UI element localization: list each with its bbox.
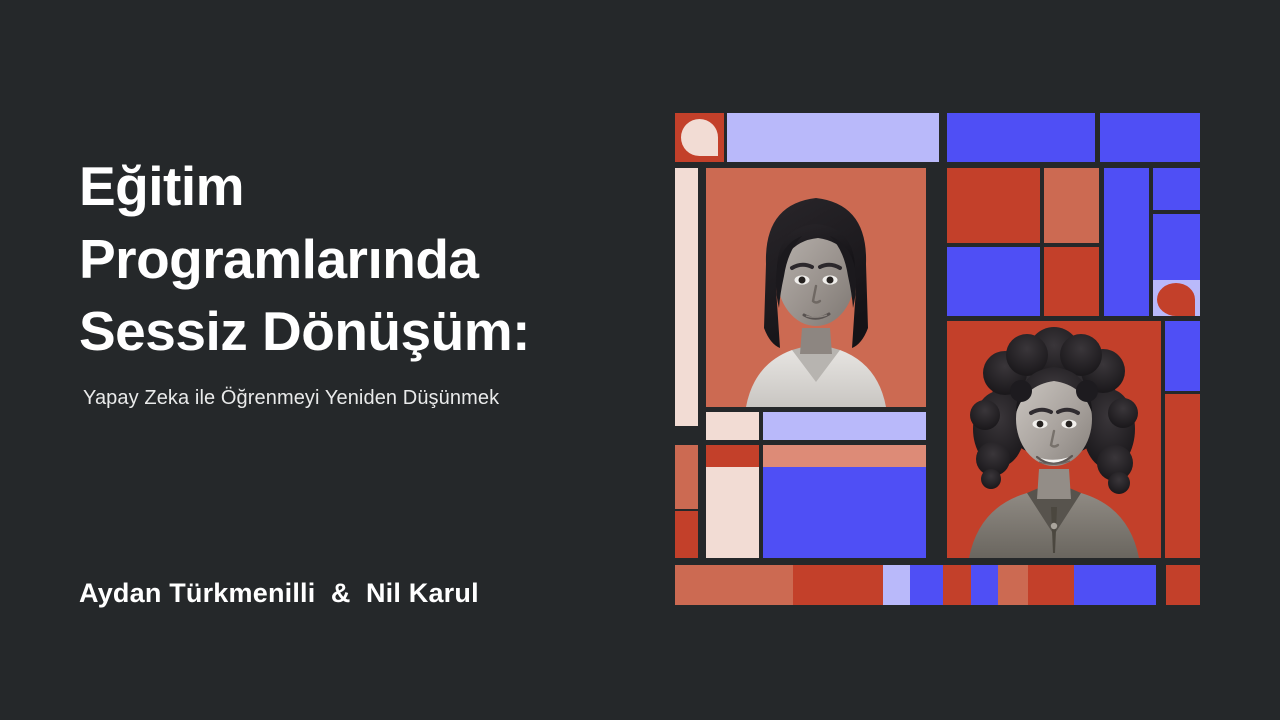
page-title: Eğitim Programlarında Sessiz Dönüşüm: <box>79 150 639 368</box>
collage-tile-brick-r2c1 <box>947 168 1040 243</box>
collage-tile-blue-tall-r2c3 <box>1104 168 1149 316</box>
bottom-strip-segment <box>675 565 793 605</box>
portrait-nil-karul <box>947 321 1161 558</box>
collage-tile-cream-low-vertical <box>706 467 759 558</box>
quarter-circle-cream-icon <box>681 119 718 156</box>
page-subtitle: Yapay Zeka ile Öğrenmeyi Yeniden Düşünme… <box>79 387 639 410</box>
collage-tile-salmon-left-low <box>675 445 698 509</box>
collage-tile-blue-right-edge <box>1165 321 1200 391</box>
bottom-strip-segment <box>883 565 910 605</box>
collage-tile-cream-small <box>706 412 759 440</box>
bottom-strip-segment <box>943 565 971 605</box>
collage-tile-blue-r2c4 <box>1153 168 1200 210</box>
quarter-circle-brick-icon <box>1153 280 1200 316</box>
photo-collage <box>675 113 1200 605</box>
collage-tile-salmon-light-bar <box>763 445 926 469</box>
author-names: Aydan Türkmenilli & Nil Karul <box>79 578 479 609</box>
collage-tile-brick-mid-low <box>706 445 759 469</box>
collage-tile-brick-r3c2 <box>1044 247 1099 316</box>
collage-tile-brick-left-low <box>675 511 698 558</box>
collage-tile-blue-r3c1 <box>947 247 1040 316</box>
collage-tile-periwinkle-banner <box>727 113 939 162</box>
bottom-strip-segment <box>998 565 1028 605</box>
bottom-strip-segment <box>1028 565 1074 605</box>
bottom-strip-gap <box>1156 565 1166 605</box>
portrait-aydan-turkmenilli <box>706 168 926 407</box>
collage-bottom-strip <box>675 565 1200 605</box>
collage-tile-brick-right-edge <box>1165 394 1200 558</box>
bottom-strip-segment <box>971 565 998 605</box>
collage-tile-cream-vertical-bar <box>675 168 698 426</box>
bottom-strip-segment <box>910 565 943 605</box>
bottom-strip-segment <box>1074 565 1156 605</box>
collage-tile-periwinkle-bar <box>763 412 926 440</box>
collage-tile-blue-top-mid <box>947 113 1095 162</box>
collage-tile-quartercircle-brick <box>1153 214 1200 316</box>
collage-tile-blue-top-right <box>1100 113 1200 162</box>
slide-text-panel: Eğitim Programlarında Sessiz Dönüşüm: Ya… <box>79 150 639 410</box>
collage-tile-quartercircle-cream <box>675 113 724 162</box>
bottom-strip-segment <box>793 565 883 605</box>
bottom-strip-segment <box>1166 565 1200 605</box>
collage-tile-blue-large-low <box>763 467 926 558</box>
collage-tile-salmon-r2c2 <box>1044 168 1099 243</box>
